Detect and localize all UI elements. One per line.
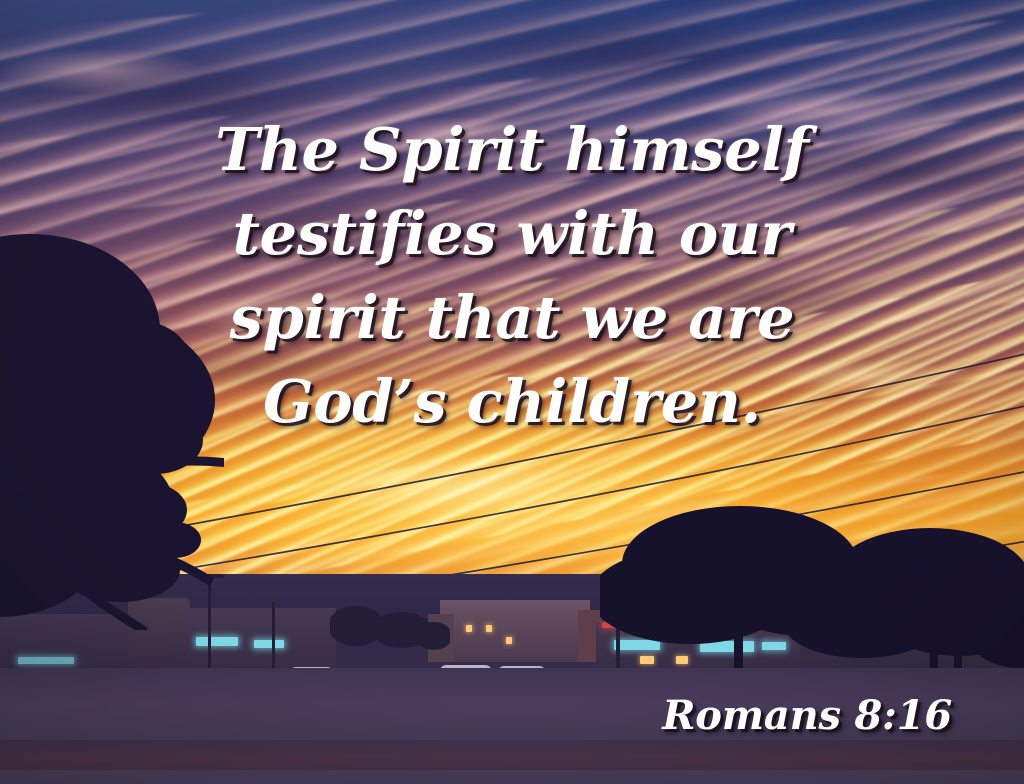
- verse-text-block: The Spirit himself testifies with our sp…: [0, 108, 1024, 444]
- verse-line-3: spirit that we are: [150, 276, 874, 360]
- hotel-window-1: [466, 625, 472, 632]
- verse-line-1: The Spirit himself: [150, 108, 874, 192]
- storefront-sign-teal-2: [254, 640, 284, 648]
- storefront-sign-teal-1: [196, 637, 238, 646]
- hotel-building: [440, 600, 590, 662]
- distant-trees: [330, 596, 450, 668]
- scripture-image: The Spirit himself testifies with our sp…: [0, 0, 1024, 784]
- verse-reference: Romans 8:16: [662, 694, 952, 738]
- street-light-pole-mid: [272, 602, 275, 672]
- storefront-sign-left-neon: [18, 657, 74, 664]
- verse-line-2: testifies with our: [150, 192, 874, 276]
- hotel-window-3: [506, 637, 512, 644]
- sidewalk: [0, 770, 1024, 784]
- verse-line-4: God’s children.: [150, 360, 874, 444]
- hotel-window-2: [486, 625, 492, 632]
